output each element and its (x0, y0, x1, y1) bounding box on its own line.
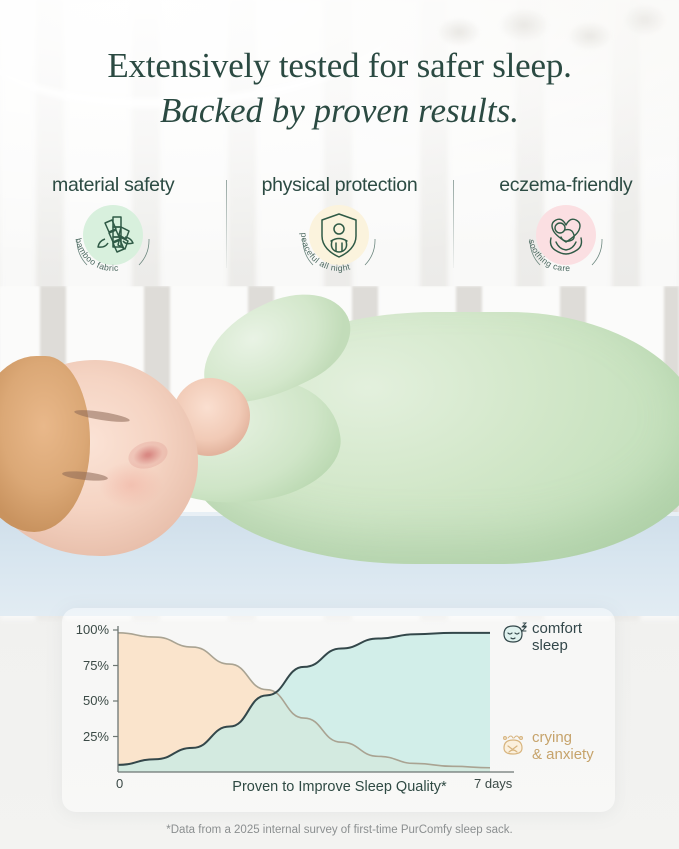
legend-crying-line-2: & anxiety (532, 746, 594, 763)
badge-mark: peaceful all night (293, 203, 385, 283)
badge-caption-arc: bamboo fabric (67, 203, 159, 283)
badge-caption-arc: soothing care (520, 203, 612, 283)
headline: Extensively tested for safer sleep. Back… (0, 44, 679, 134)
promo-infographic: Extensively tested for safer sleep. Back… (0, 0, 679, 849)
legend-comfort-line-1: comfort (532, 620, 582, 637)
chart-y-ticks (113, 630, 118, 737)
crying-baby-face-icon (499, 730, 529, 758)
badge-caption-arc: peaceful all night (293, 203, 385, 283)
badge-caption: soothing care (527, 238, 571, 273)
y-tick-50: 50% (62, 693, 109, 708)
badge-material-safety: material safety (0, 174, 226, 283)
legend-comfort-line-2: sleep (532, 637, 568, 654)
badge-caption: peaceful all night (299, 232, 352, 273)
legend-crying-anxiety: crying & anxiety (532, 729, 594, 763)
badge-title: eczema-friendly (453, 174, 679, 197)
badge-title: physical protection (226, 174, 452, 197)
y-tick-75: 75% (62, 658, 109, 673)
feature-badge-row: material safety (0, 174, 679, 292)
chart-title: Proven to Improve Sleep Quality* (0, 779, 679, 795)
y-tick-25: 25% (62, 729, 109, 744)
legend-crying-line-1: crying (532, 729, 572, 746)
sleeping-baby-face-icon (499, 621, 529, 647)
badge-title: material safety (0, 174, 226, 197)
headline-line-1: Extensively tested for safer sleep. (0, 44, 679, 88)
badge-mark: bamboo fabric (67, 203, 159, 283)
badge-physical-protection: physical protection peacefu (226, 174, 452, 283)
headline-line-2: Backed by proven results. (0, 88, 679, 134)
sleeping-baby-photo (0, 286, 679, 616)
y-tick-100: 100% (62, 622, 109, 637)
badge-eczema-friendly: eczema-friendly soothing ca (453, 174, 679, 283)
badge-mark: soothing care (520, 203, 612, 283)
legend-comfort-sleep: comfort sleep (532, 620, 582, 654)
footnote: *Data from a 2025 internal survey of fir… (0, 824, 679, 836)
chart-areas (118, 633, 490, 772)
badge-caption: bamboo fabric (74, 237, 120, 273)
